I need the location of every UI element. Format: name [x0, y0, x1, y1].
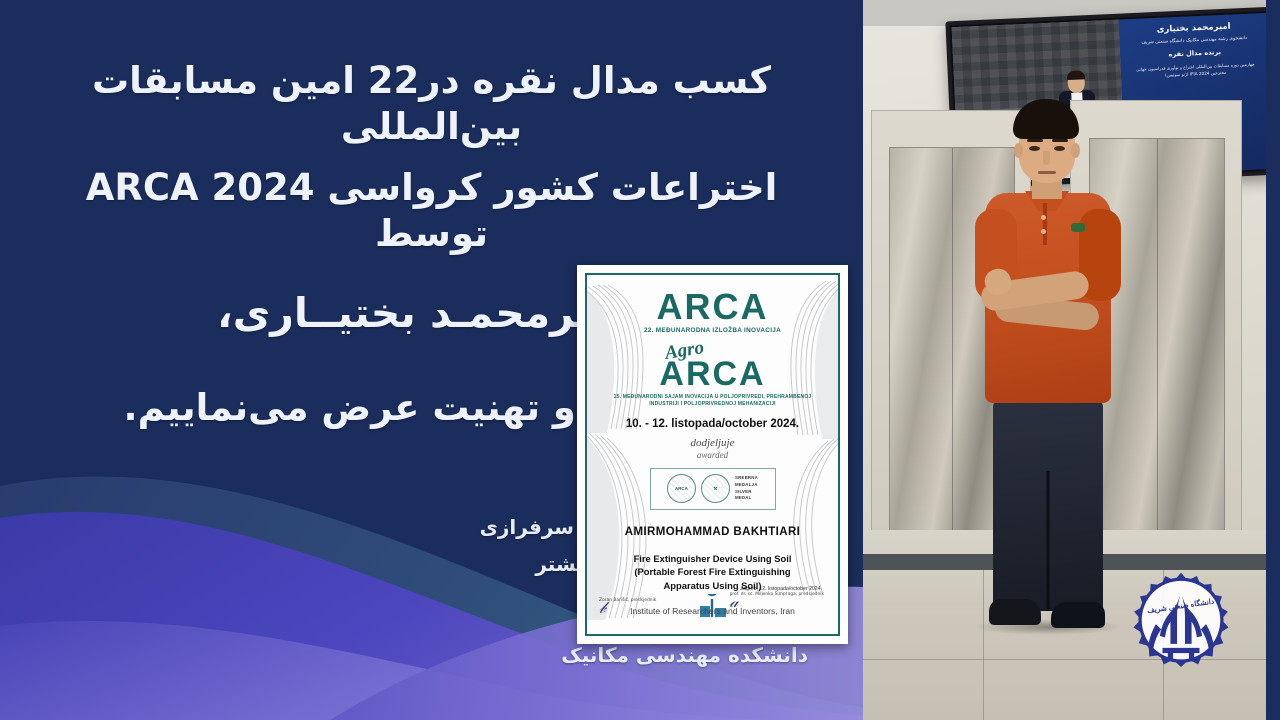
tv-event-description: چهارمین دوره مسابقات بین‌المللی اختراع و… — [1121, 60, 1270, 81]
person-hair — [1013, 99, 1079, 139]
tv-award-label: برنده مدال نقره — [1120, 46, 1269, 61]
person-eyebrow-right — [1052, 139, 1068, 142]
presentation-slide: کسب مدال نقره در22 امین مسابقات بین‌المل… — [0, 0, 1280, 720]
person-shoe-right — [1051, 602, 1105, 628]
person-placket — [1043, 203, 1047, 245]
certificate-organization: Institute of Researchers and Inventors, … — [587, 606, 838, 616]
arca-brand: ARCA — [587, 289, 838, 325]
sharif-university-logo-icon: دانشگاه صنعتی شریف — [1115, 570, 1247, 702]
person-nose — [1043, 151, 1050, 165]
person-ear-right — [1071, 143, 1080, 158]
certificate-invention-title: Fire Extinguisher Device Using Soil (Por… — [587, 552, 838, 593]
medal-label: SREBRNA MEDALJA SILVER MEDAL — [735, 475, 758, 501]
headline-line-1: کسب مدال نقره در22 امین مسابقات بین‌المل… — [40, 58, 823, 151]
awarded-label-hr: dodjeljuje — [587, 437, 838, 449]
awarded-label-en: awarded — [587, 450, 838, 460]
innovation-seal-icon: ⚒ — [701, 474, 730, 503]
person-eye-right — [1054, 146, 1065, 151]
certificate-event-date: 10. - 12. listopada/october 2024. — [587, 418, 838, 430]
medal-label-line-3: SILVER — [735, 489, 752, 494]
certificate-frame: ARCA 22. MEĐUNARODNA IZLOŽBA INOVACIJA A… — [585, 273, 840, 636]
person-shirt-button — [1041, 229, 1046, 234]
arca-seal-icon: ARCA — [667, 474, 696, 503]
medal-emblem-box: ARCA ⚒ SREBRNA MEDALJA SILVER MEDAL — [650, 468, 776, 510]
agro-arca-brand: ARCA — [587, 357, 838, 391]
person-mouth — [1038, 171, 1056, 174]
agro-arca-subtitle: 15. MEĐUNARODNI SAJAM INOVACIJA U POLJOP… — [587, 394, 838, 409]
person-eye-left — [1029, 146, 1040, 151]
arca-certificate: ARCA 22. MEĐUNARODNA IZLOŽBA INOVACIJA A… — [577, 265, 848, 644]
certificate-recipient: AMIRMOHAMMAD BAKHTIARI — [587, 526, 838, 538]
person-portrait — [967, 99, 1127, 654]
certificate-content: ARCA 22. MEĐUNARODNA IZLOŽBA INOVACIJA A… — [587, 275, 838, 616]
invention-line-3: Apparatus Using Soil) — [664, 580, 762, 591]
headline-line-2: اختراعات کشور کرواسی ARCA 2024 توسط — [40, 165, 823, 258]
medal-label-line-2: MEDALJA — [735, 482, 758, 487]
person-trousers — [993, 399, 1103, 611]
person-ear-left — [1014, 143, 1023, 158]
person-shirt-button — [1041, 215, 1046, 220]
person-shoe-left — [989, 599, 1041, 625]
tv-person-hair — [1067, 70, 1085, 80]
arca-brand-subtitle: 22. MEĐUNARODNA IZLOŽBA INOVACIJA — [587, 327, 838, 334]
medal-label-line-1: SREBRNA — [735, 475, 758, 480]
tv-student-affiliation: دانشجوی رشته مهندسی مکانیک دانشگاه صنعتی… — [1120, 35, 1269, 47]
medal-label-line-4: MEDAL — [735, 495, 752, 500]
invention-line-2: (Portable Forest Fire Extinguishing — [634, 566, 790, 577]
invention-line-1: Fire Extinguisher Device Using Soil — [634, 553, 792, 564]
tv-student-name: امیرمحمد بختیاری — [1119, 20, 1268, 37]
crocodile-logo-icon — [1071, 223, 1085, 232]
person-eyebrow-left — [1027, 139, 1043, 142]
